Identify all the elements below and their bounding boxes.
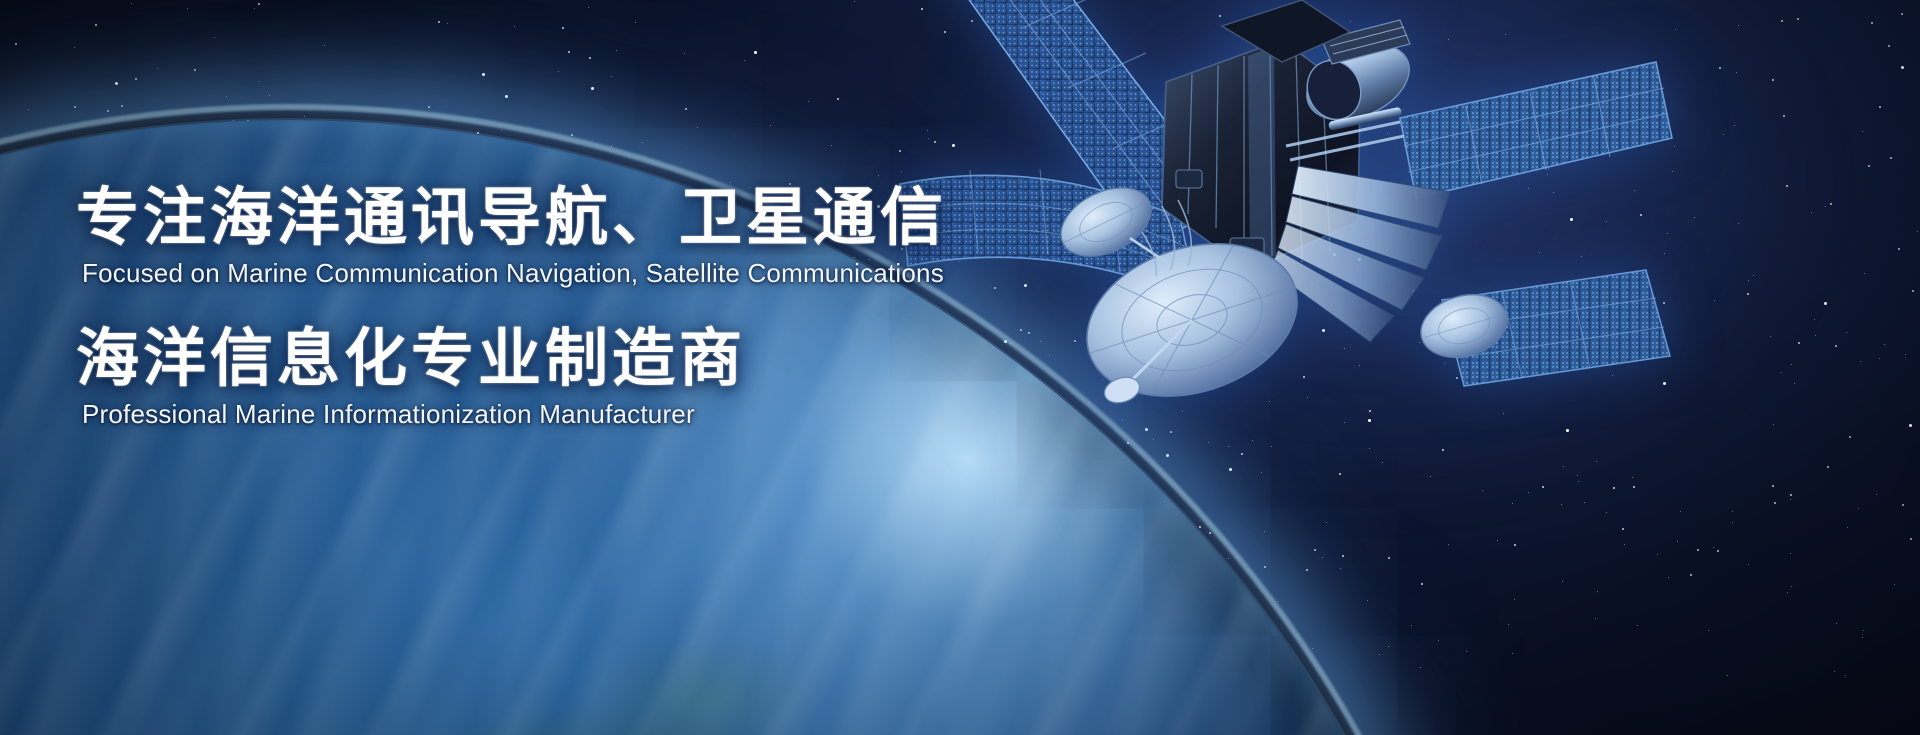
headline-zh-primary: 专注海洋通讯导航、卫星通信 xyxy=(76,186,947,252)
hero-banner: 专注海洋通讯导航、卫星通信 Focused on Marine Communic… xyxy=(0,0,1920,735)
headline-zh-secondary: 海洋信息化专业制造商 xyxy=(76,327,746,393)
headline-en-secondary: Professional Marine Informationization M… xyxy=(82,399,746,430)
headline-en-primary: Focused on Marine Communication Navigati… xyxy=(82,258,947,289)
headline-block-primary: 专注海洋通讯导航、卫星通信 Focused on Marine Communic… xyxy=(76,186,947,289)
nebula-glow-right xyxy=(922,0,1822,502)
headline-block-secondary: 海洋信息化专业制造商 Professional Marine Informati… xyxy=(76,327,746,430)
